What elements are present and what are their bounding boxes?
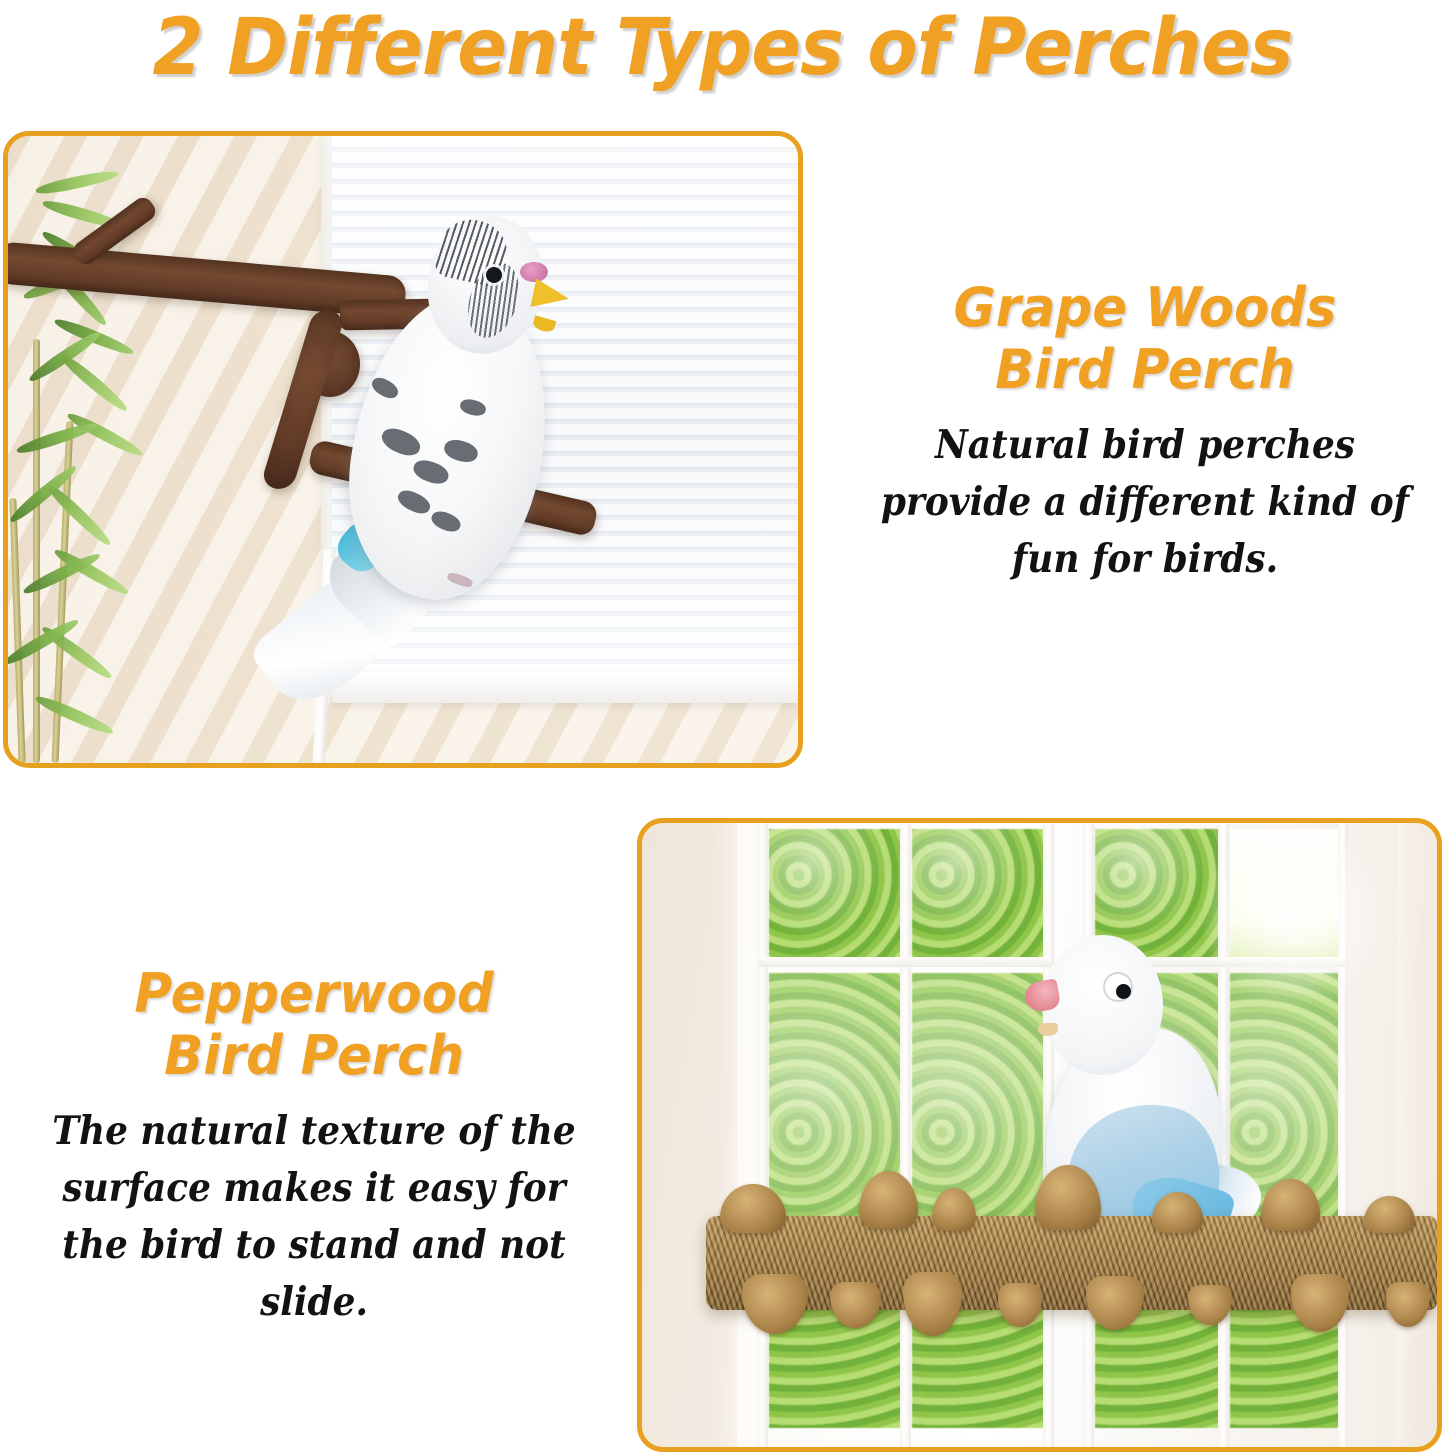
pepperwood-perch [706,1216,1437,1310]
grape-woods-heading-line2: Bird Perch [860,339,1430,401]
pepperwood-heading-line2: Bird Perch [23,1025,604,1087]
window-mullion [757,823,767,1447]
window-mullion [757,957,1051,967]
window-pane [769,829,904,960]
grape-woods-heading: Grape Woods Bird Perch [860,277,1430,401]
bird-cere [520,262,548,282]
pepperwood-photo-panel [637,818,1442,1452]
window-mullion [900,823,910,1447]
bird-beak-lower [1038,1023,1058,1036]
bamboo-leaf [34,693,116,738]
pepperwood-heading-line1: Pepperwood [23,963,604,1025]
bird-eye [1116,984,1131,999]
grape-woods-photo-panel [3,131,803,768]
pepperwood-photo [642,823,1437,1447]
pepperwood-heading: Pepperwood Bird Perch [23,963,604,1087]
grape-woods-description: Natural bird perches provide a different… [869,417,1421,588]
pepperwood-description: The natural texture of the surface makes… [32,1103,595,1331]
grape-woods-heading-line1: Grape Woods [860,277,1430,339]
page-title: 2 Different Types of Perches [43,2,1401,94]
grape-woods-photo [8,136,798,763]
grape-woods-text-block: Grape Woods Bird Perch Natural bird perc… [845,277,1445,588]
bird-head [1042,935,1162,1075]
budgerigar-bird [324,205,585,719]
bird-beak-lower [531,315,556,334]
pepperwood-text-block: Pepperwood Bird Perch The natural textur… [8,963,620,1331]
bird-eye [486,267,502,283]
